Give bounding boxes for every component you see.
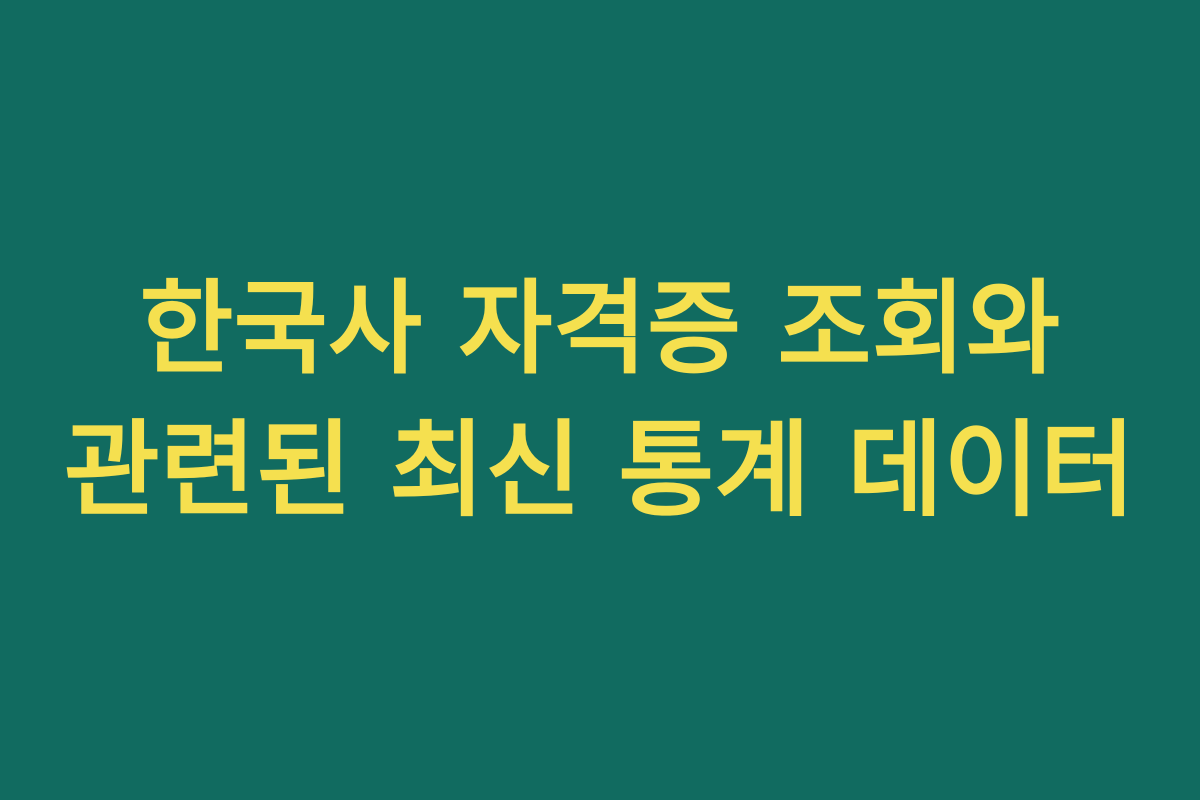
title-line-2: 관련된 최신 통계 데이터	[64, 400, 1136, 540]
title-banner: 한국사 자격증 조회와 관련된 최신 통계 데이터	[0, 0, 1200, 800]
page-title: 한국사 자격증 조회와 관련된 최신 통계 데이터	[0, 260, 1200, 540]
title-line-1: 한국사 자격증 조회와	[139, 260, 1060, 400]
